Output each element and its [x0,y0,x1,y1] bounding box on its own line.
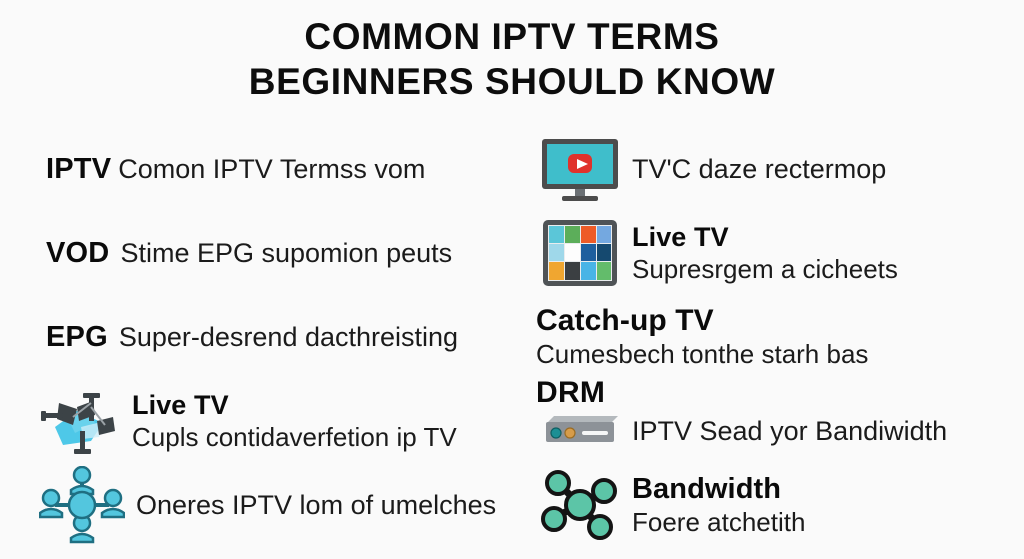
term-desc-tv-monitor: TV'C daze rectermop [632,154,886,184]
term-entry-users: Oneres IPTV lom of umelches [34,468,504,542]
term-desc-iptv: Comon IPTV Termss vom [118,154,425,184]
term-text-live-tv-left: Live TV Cupls contidaverfetion ip TV [132,390,504,453]
term-text-iptv: IPTVComon IPTV Termss vom [46,152,504,186]
term-label-bandwidth: Bandwidth [632,473,1016,506]
term-text-live-tv-right: Live TV Supresrgem a cicheets [632,222,1016,285]
title-line-1: COMMON IPTV TERMS [0,14,1024,59]
title-line-2: BEGINNERS SHOULD KNOW [0,59,1024,104]
term-desc-drm: IPTV Sead yor Bandiwidth [632,415,947,448]
term-desc-epg: Super-desrend dacthreisting [119,322,458,352]
term-label-drm: DRM [536,376,605,410]
term-desc-bandwidth: Foere atchetith [632,506,1016,538]
term-text-catch-up-tv: Catch-up TV Cumesbech tonthe starh bas [536,304,1016,370]
term-label-vod: VOD [46,237,109,269]
term-entry-bandwidth: Bandwidth Foere atchetith [536,468,1016,542]
term-entry-epg: EPGSuper-desrend dacthreisting [46,300,504,374]
right-column: TV'C daze rectermop [512,118,1024,559]
term-label-epg: EPG [46,321,108,353]
people-network-icon [34,466,130,544]
term-desc-live-tv-right: Supresrgem a cicheets [632,253,1016,285]
terms-columns: IPTVComon IPTV Termss vom VODStime EPG s… [0,118,1024,559]
term-entry-vod: VODStime EPG supomion peuts [46,216,504,290]
term-text-epg: EPGSuper-desrend dacthreisting [46,320,504,354]
drm-icon-row: IPTV Sead yor Bandiwidth [536,414,1016,448]
term-entry-tv-monitor: TV'C daze rectermop [536,132,1016,206]
term-entry-catch-up-tv: Catch-up TV Cumesbech tonthe starh bas [536,300,1016,374]
term-entry-drm: DRM IPTV Sead yor Bandiwidth [536,384,1016,458]
term-entry-live-tv-right: Live TV Supresrgem a cicheets [536,216,1016,290]
tv-monitor-play-icon [536,135,624,203]
term-text-vod: VODStime EPG supomion peuts [46,236,504,270]
set-top-box-icon [536,414,624,448]
term-desc-live-tv-left: Cupls contidaverfetion ip TV [132,421,504,453]
page-title: COMMON IPTV TERMS BEGINNERS SHOULD KNOW [0,14,1024,104]
term-label-catch-up-tv: Catch-up TV [536,304,1016,338]
network-molecule-icon [536,469,624,541]
term-entry-iptv: IPTVComon IPTV Termss vom [46,132,504,206]
term-desc-vod: Stime EPG supomion peuts [120,238,452,268]
term-desc-users: Oneres IPTV lom of umelches [136,490,496,520]
color-grid-icon [536,218,624,288]
term-text-tv-monitor: TV'C daze rectermop [632,152,1016,186]
left-column: IPTVComon IPTV Termss vom VODStime EPG s… [0,118,512,559]
term-label-iptv: IPTV [46,153,111,185]
term-text-bandwidth: Bandwidth Foere atchetith [632,473,1016,538]
term-text-users: Oneres IPTV lom of umelches [136,488,504,522]
term-label-live-tv-right: Live TV [632,222,1016,253]
term-desc-catch-up-tv: Cumesbech tonthe starh bas [536,338,1016,370]
term-label-live-tv-left: Live TV [132,390,504,421]
satellite-broadcast-icon [30,387,126,455]
term-entry-live-tv-left: Live TV Cupls contidaverfetion ip TV [30,384,504,458]
